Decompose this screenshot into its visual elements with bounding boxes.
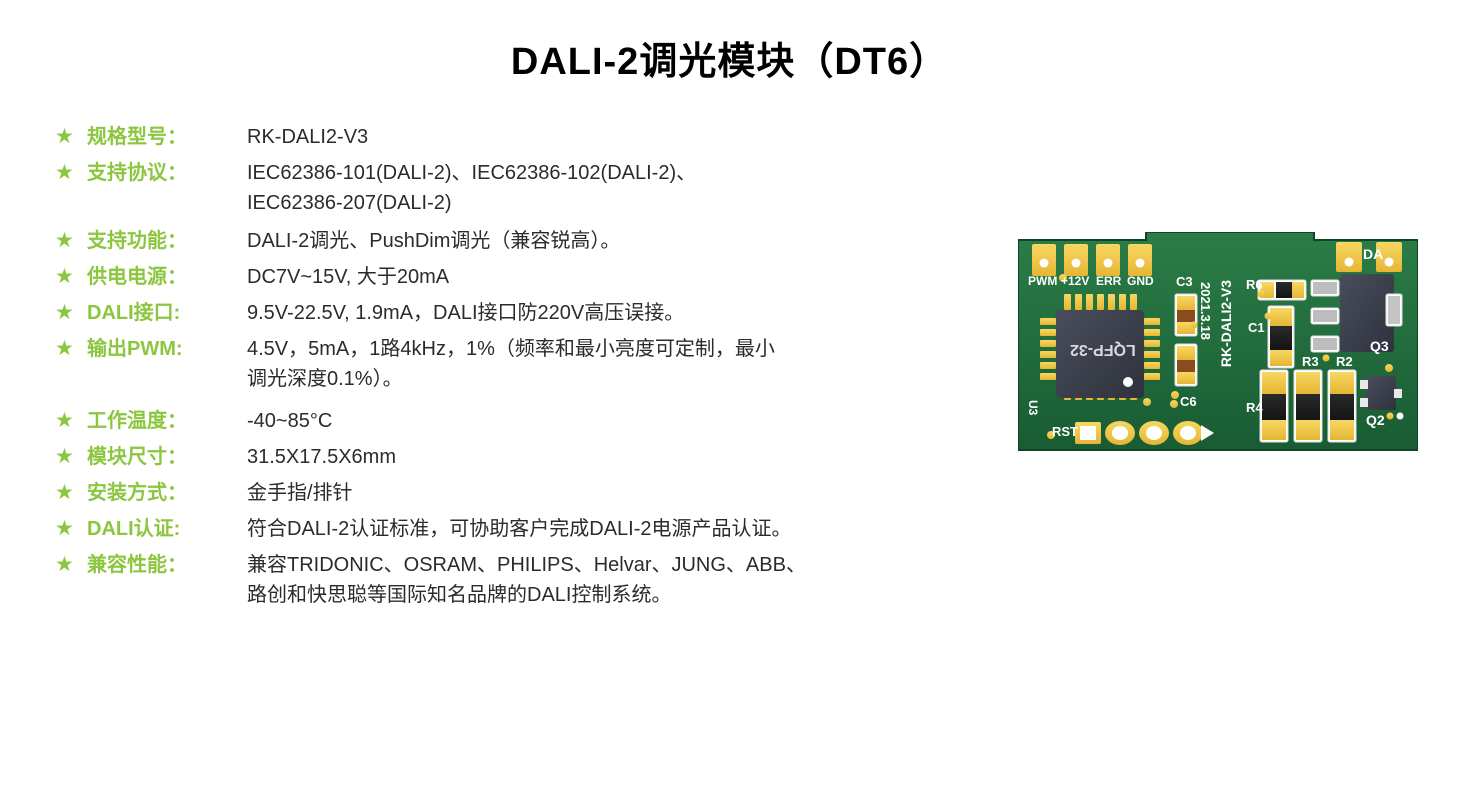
pcb-component-c3 <box>1171 294 1198 399</box>
spec-label: 输出PWM: <box>87 334 247 364</box>
star-icon: ★ <box>55 158 87 188</box>
spec-row-model: ★ 规格型号： RK-DALI2-V3 <box>55 122 1015 152</box>
spec-value: 兼容TRIDONIC、OSRAM、PHILIPS、Helvar、JUNG、ABB… <box>247 550 1015 610</box>
star-icon: ★ <box>55 478 87 508</box>
star-icon: ★ <box>55 514 87 544</box>
page-title: DALI-2调光模块（DT6） <box>0 30 1459 85</box>
pcb-board-svg <box>1018 232 1418 462</box>
spec-row-power: ★ 供电电源： DC7V~15V, 大于20mA <box>55 262 1015 292</box>
star-icon: ★ <box>55 442 87 472</box>
pcb-component-r3 <box>1294 370 1322 442</box>
spec-label: DALI认证: <box>87 514 247 544</box>
star-icon: ★ <box>55 406 87 436</box>
pcb-product-image: PWM +12V ERR GND DA C3 C6 C1 R6 R3 R2 R4… <box>1018 232 1418 462</box>
spec-row-mounting: ★ 安装方式： 金手指/排针 <box>55 478 1015 508</box>
spec-value: 9.5V-22.5V, 1.9mA，DALI接口防220V高压误接。 <box>247 298 1015 328</box>
pcb-component-r6 <box>1258 280 1307 300</box>
spec-value: -40~85°C <box>247 406 1015 436</box>
spec-label: DALI接口: <box>87 298 247 328</box>
star-icon: ★ <box>55 334 87 364</box>
spec-label: 工作温度： <box>87 406 247 436</box>
spec-row-pwm-output: ★ 输出PWM: 4.5V，5mA，1路4kHz，1%（频率和最小亮度可定制，最… <box>55 334 1015 394</box>
pcb-component-r2 <box>1328 370 1356 442</box>
pcb-component-q3 <box>1340 274 1402 352</box>
spec-row-temperature: ★ 工作温度： -40~85°C <box>55 406 1015 436</box>
spec-label: 安装方式： <box>87 478 247 508</box>
spec-label: 兼容性能： <box>87 550 247 580</box>
spec-row-dali-interface: ★ DALI接口: 9.5V-22.5V, 1.9mA，DALI接口防220V高… <box>55 298 1015 328</box>
spec-value: DALI-2调光、PushDim调光（兼容锐高）。 <box>247 226 1015 256</box>
spec-value: DC7V~15V, 大于20mA <box>247 262 1015 292</box>
pcb-pads-mid <box>1311 280 1339 362</box>
spec-label: 支持协议： <box>87 158 247 188</box>
spec-label: 支持功能： <box>87 226 247 256</box>
product-spec-page: DALI-2调光模块（DT6） ★ 规格型号： RK-DALI2-V3 ★ 支持… <box>0 0 1459 792</box>
spec-label: 供电电源： <box>87 262 247 292</box>
star-icon: ★ <box>55 550 87 580</box>
spec-label: 规格型号： <box>87 122 247 152</box>
star-icon: ★ <box>55 298 87 328</box>
spec-row-function: ★ 支持功能： DALI-2调光、PushDim调光（兼容锐高）。 <box>55 226 1015 256</box>
pcb-component-r4 <box>1260 370 1288 442</box>
star-icon: ★ <box>55 262 87 292</box>
spec-row-dimensions: ★ 模块尺寸： 31.5X17.5X6mm <box>55 442 1015 472</box>
spec-value: 金手指/排针 <box>247 478 1015 508</box>
star-icon: ★ <box>55 226 87 256</box>
star-icon: ★ <box>55 122 87 152</box>
spec-value: RK-DALI2-V3 <box>247 122 1015 152</box>
spec-value: 31.5X17.5X6mm <box>247 442 1015 472</box>
spec-list: ★ 规格型号： RK-DALI2-V3 ★ 支持协议： IEC62386-101… <box>55 122 1015 616</box>
spec-value: IEC62386-101(DALI-2)、IEC62386-102(DALI-2… <box>247 158 1015 218</box>
spec-label: 模块尺寸： <box>87 442 247 472</box>
spec-row-compatibility: ★ 兼容性能： 兼容TRIDONIC、OSRAM、PHILIPS、Helvar、… <box>55 550 1015 610</box>
pcb-component-c1 <box>1265 306 1295 368</box>
spec-row-protocol: ★ 支持协议： IEC62386-101(DALI-2)、IEC62386-10… <box>55 158 1015 218</box>
spec-value: 符合DALI-2认证标准，可协助客户完成DALI-2电源产品认证。 <box>247 514 1015 544</box>
spec-row-certification: ★ DALI认证: 符合DALI-2认证标准，可协助客户完成DALI-2电源产品… <box>55 514 1015 544</box>
spec-value: 4.5V，5mA，1路4kHz，1%（频率和最小亮度可定制，最小 调光深度0.1… <box>247 334 1015 394</box>
